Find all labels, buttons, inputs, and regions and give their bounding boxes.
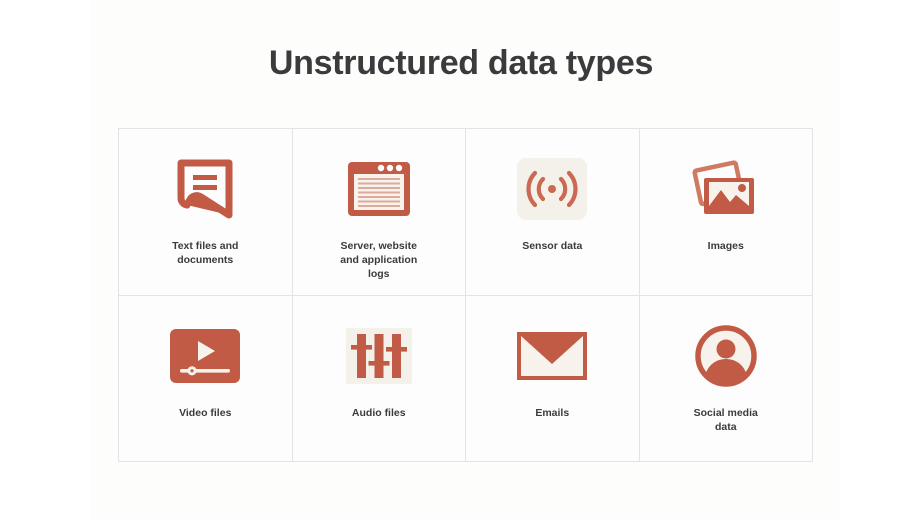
document-icon (167, 151, 243, 227)
cell-label: Text files and documents (172, 239, 238, 267)
video-player-icon (167, 318, 243, 394)
cell-label: Images (708, 239, 744, 253)
grid-cell-audio-files[interactable]: Audio files (293, 296, 467, 463)
grid-cell-emails[interactable]: Emails (466, 296, 640, 463)
grid-cell-images[interactable]: Images (640, 129, 814, 296)
cell-label: Video files (179, 406, 231, 420)
sensor-signal-icon (514, 151, 590, 227)
audio-faders-icon (341, 318, 417, 394)
slide: Unstructured data types Text files and d… (0, 0, 922, 519)
data-types-grid: Text files and documents (118, 128, 813, 462)
grid-cell-video-files[interactable]: Video files (119, 296, 293, 463)
cell-label: Server, website and application logs (340, 239, 417, 282)
cell-label: Emails (535, 406, 569, 420)
cell-label: Sensor data (522, 239, 582, 253)
user-circle-icon (688, 318, 764, 394)
envelope-icon (514, 318, 590, 394)
photos-stack-icon (688, 151, 764, 227)
cell-label: Audio files (352, 406, 406, 420)
grid-cell-text-files[interactable]: Text files and documents (119, 129, 293, 296)
browser-window-logs-icon (341, 151, 417, 227)
grid-cell-social-media[interactable]: Social media data (640, 296, 814, 463)
cell-label: Social media data (694, 406, 758, 434)
grid-cell-server-logs[interactable]: Server, website and application logs (293, 129, 467, 296)
grid-cell-sensor-data[interactable]: Sensor data (466, 129, 640, 296)
page-title: Unstructured data types (0, 44, 922, 83)
